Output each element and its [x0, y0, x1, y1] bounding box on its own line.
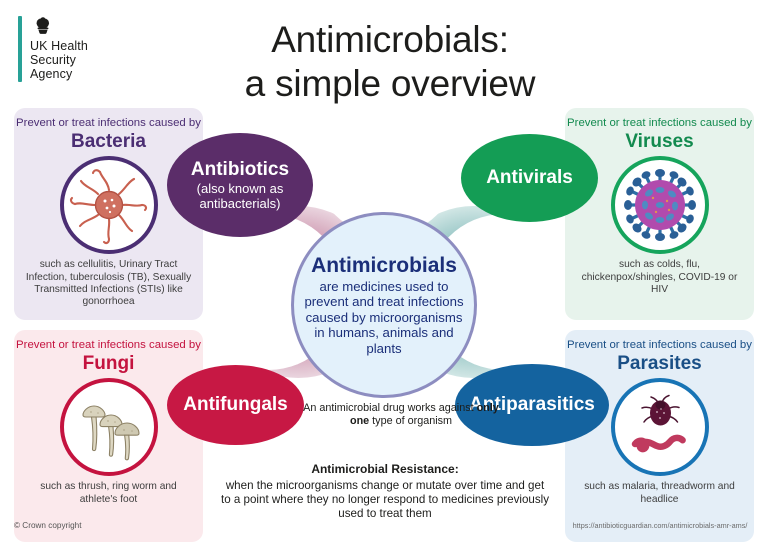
panel-viruses-lead: Prevent or treat infections caused by: [565, 117, 754, 130]
infographic-canvas: UK Health Security Agency Antimicrobials…: [0, 0, 768, 543]
bubble-antifungals-label: Antifungals: [183, 394, 288, 416]
copyright-text: © Crown copyright: [14, 521, 81, 530]
panel-bacteria-lead: Prevent or treat infections caused by: [14, 117, 203, 130]
panel-viruses-examples: such as colds, flu, chickenpox/shingles,…: [565, 259, 754, 296]
bacteria-icon: [60, 156, 158, 254]
logo-accent-bar: [18, 16, 22, 82]
mushroom-icon: [60, 378, 158, 476]
page-title: Antimicrobials: a simple overview: [180, 18, 600, 106]
panel-parasites-category: Parasites: [565, 353, 754, 375]
virus-icon: [611, 156, 709, 254]
title-line-1: Antimicrobials:: [180, 18, 600, 62]
panel-fungi: Prevent or treat infections caused by Fu…: [14, 330, 203, 542]
panel-parasites-examples: such as malaria, threadworm and headlice: [565, 481, 754, 506]
specificity-note: An antimicrobial drug works against only…: [303, 402, 499, 428]
specificity-note-pre: An antimicrobial drug works against: [303, 402, 476, 414]
ukhsa-logo: UK Health Security Agency: [18, 16, 88, 82]
source-url[interactable]: https://antibioticguardian.com/antimicro…: [565, 521, 755, 530]
bubble-antivirals[interactable]: Antivirals: [461, 134, 598, 222]
panel-fungi-examples: such as thrush, ring worm and athlete's …: [14, 481, 203, 506]
logo-line-2: Security: [30, 53, 88, 67]
panel-parasites: Prevent or treat infections caused by Pa…: [565, 330, 754, 542]
title-line-2: a simple overview: [180, 62, 600, 106]
panel-bacteria-category: Bacteria: [14, 131, 203, 153]
bubble-antibiotics-label: Antibiotics: [191, 159, 289, 181]
bubble-antibiotics[interactable]: Antibiotics (also known as antibacterial…: [167, 133, 313, 237]
bubble-antivirals-label: Antivirals: [486, 167, 573, 189]
core-body: are medicines used to prevent and treat …: [304, 279, 464, 356]
bubble-antibiotics-sub: (also known as antibacterials): [167, 181, 313, 212]
core-circle-antimicrobials[interactable]: Antimicrobials are medicines used to pre…: [291, 212, 477, 398]
specificity-note-post: type of organism: [369, 415, 452, 427]
panel-fungi-category: Fungi: [14, 353, 203, 375]
panel-viruses: Prevent or treat infections caused by Vi…: [565, 108, 754, 320]
panel-fungi-lead: Prevent or treat infections caused by: [14, 339, 203, 352]
panel-bacteria: Prevent or treat infections caused by Ba…: [14, 108, 203, 320]
parasite-icon: [611, 378, 709, 476]
panel-bacteria-examples: such as cellulitis, Urinary Tract Infect…: [14, 259, 203, 308]
panel-parasites-lead: Prevent or treat infections caused by: [565, 339, 754, 352]
amr-definition: Antimicrobial Resistance: when the micro…: [220, 462, 550, 521]
panel-viruses-category: Viruses: [565, 131, 754, 153]
logo-line-3: Agency: [30, 67, 88, 81]
logo-line-1: UK Health: [30, 39, 88, 53]
amr-heading: Antimicrobial Resistance:: [220, 462, 550, 477]
bubble-antifungals[interactable]: Antifungals: [167, 365, 304, 445]
amr-body: when the microorganisms change or mutate…: [220, 479, 550, 521]
royal-crest-icon: [30, 16, 56, 38]
core-title: Antimicrobials: [311, 254, 457, 278]
